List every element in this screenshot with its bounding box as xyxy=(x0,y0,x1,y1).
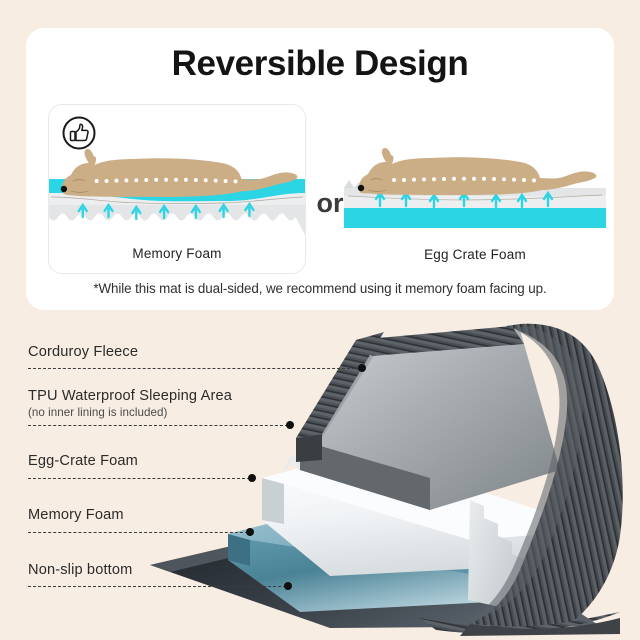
leader-line-egg-crate-foam xyxy=(28,478,250,480)
or-divider: or xyxy=(312,188,348,219)
product-layers-illustration xyxy=(0,0,640,640)
leader-dot-memory-foam xyxy=(246,528,254,536)
callout-corduroy-fleece: Corduroy Fleece xyxy=(28,343,138,361)
callout-non-slip-bottom: Non-slip bottom xyxy=(28,561,132,579)
leader-dot-corduroy-fleece xyxy=(358,364,366,372)
leader-dot-tpu-sleeping-area xyxy=(286,421,294,429)
infographic-canvas: Reversible Design xyxy=(0,0,640,640)
leader-dot-egg-crate-foam xyxy=(248,474,256,482)
callout-memory-foam: Memory Foam xyxy=(28,506,124,524)
leader-line-corduroy-fleece xyxy=(28,368,360,370)
thumbs-up-icon xyxy=(61,115,97,151)
leader-line-non-slip-bottom xyxy=(28,586,286,588)
callout-egg-crate-foam: Egg-Crate Foam xyxy=(28,452,138,470)
callout-tpu-sleeping-area: TPU Waterproof Sleeping Area (no inner l… xyxy=(28,387,232,419)
leader-dot-non-slip-bottom xyxy=(284,582,292,590)
leader-line-memory-foam xyxy=(28,532,248,534)
leader-line-tpu-sleeping-area xyxy=(28,425,288,427)
